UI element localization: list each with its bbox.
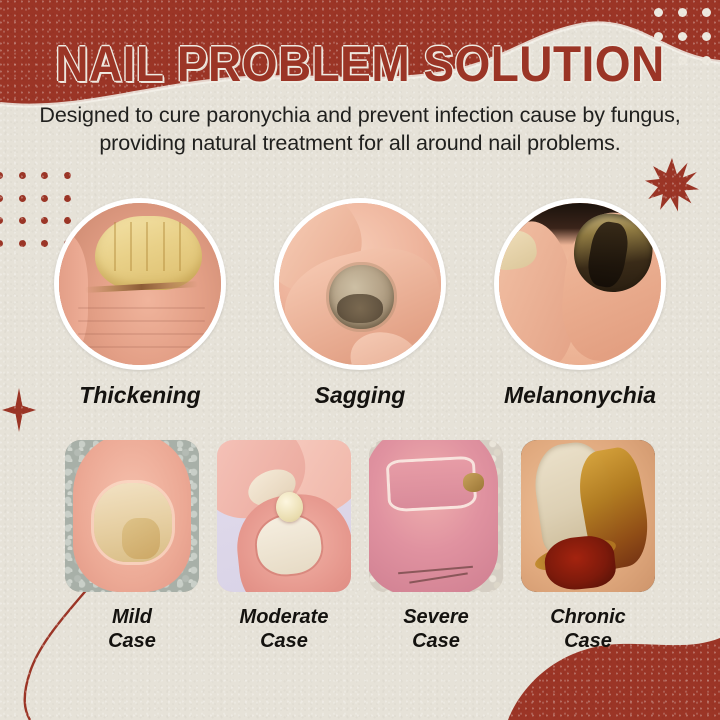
page-subtitle: Designed to cure paronychia and prevent …	[30, 101, 690, 158]
dot	[64, 172, 71, 179]
chronic-paronychia-photo	[521, 440, 655, 592]
condition-item-melanonychia[interactable]: Melanonychia	[482, 198, 678, 418]
poster-header: NAIL PROBLEM SOLUTION Designed to cure p…	[0, 0, 720, 158]
severity-label-line2: Case	[564, 630, 612, 652]
severity-label-line1: Moderate	[240, 606, 329, 628]
dark-pigmented-nail-photo	[494, 198, 666, 370]
severity-label-line1: Chronic	[550, 606, 626, 628]
severity-row: Mild Case Moderate Case	[0, 440, 720, 653]
condition-label: Melanonychia	[504, 382, 656, 409]
dot	[41, 172, 48, 179]
severity-label-line2: Case	[412, 630, 460, 652]
sagging-crumbling-nail-photo	[274, 198, 446, 370]
dot	[19, 172, 26, 179]
severity-item-moderate[interactable]: Moderate Case	[217, 440, 351, 653]
mild-paronychia-photo	[65, 440, 199, 592]
severity-label-line1: Severe	[403, 606, 469, 628]
condition-label: Sagging	[315, 382, 406, 409]
severity-item-chronic[interactable]: Chronic Case	[521, 440, 655, 653]
severity-label: Mild Case	[108, 606, 156, 653]
dot	[0, 172, 3, 179]
severe-paronychia-photo	[369, 440, 503, 592]
thickened-yellow-toenail-photo	[54, 198, 226, 370]
page-title: NAIL PROBLEM SOLUTION	[29, 38, 691, 91]
severity-label: Chronic Case	[550, 606, 626, 653]
severity-label: Severe Case	[403, 606, 469, 653]
poster-canvas: NAIL PROBLEM SOLUTION Designed to cure p…	[0, 0, 720, 720]
moderate-paronychia-photo	[217, 440, 351, 592]
condition-item-thickening[interactable]: Thickening	[42, 198, 238, 418]
severity-label-line2: Case	[260, 630, 308, 652]
severity-label: Moderate Case	[240, 606, 329, 653]
severity-item-severe[interactable]: Severe Case	[369, 440, 503, 653]
conditions-row: Thickening Sagging	[0, 198, 720, 418]
condition-label: Thickening	[79, 382, 200, 409]
severity-item-mild[interactable]: Mild Case	[65, 440, 199, 653]
severity-label-line1: Mild	[112, 606, 152, 628]
severity-label-line2: Case	[108, 630, 156, 652]
condition-item-sagging[interactable]: Sagging	[262, 198, 458, 418]
